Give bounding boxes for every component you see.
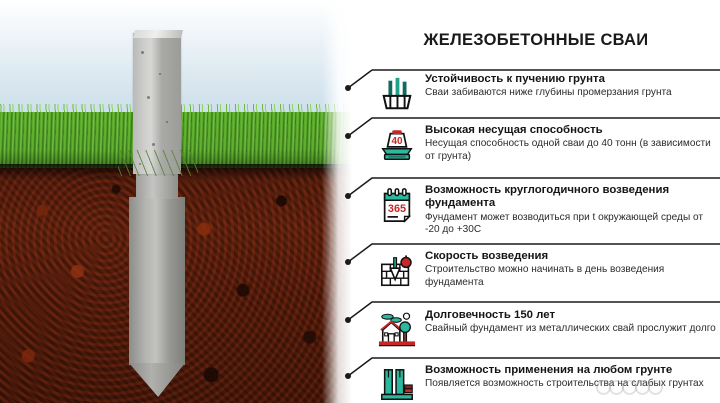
weight-scale-40-icon: 40 bbox=[378, 126, 416, 164]
feature-heading: Высокая несущая способность bbox=[425, 124, 716, 137]
feature-item[interactable]: Долговечность 150 лет Свайный фундамент … bbox=[352, 308, 720, 349]
feature-description: Строительство можно начинать в день возв… bbox=[425, 264, 716, 289]
feature-text: Устойчивость к пучению грунта Сваи забив… bbox=[425, 72, 716, 100]
pile-top-face bbox=[133, 30, 183, 38]
feature-text: Возможность круглогодичного возведения ф… bbox=[425, 183, 716, 237]
brick-trowel-stopwatch-icon bbox=[378, 252, 416, 290]
feature-heading: Устойчивость к пучению грунта bbox=[425, 73, 716, 86]
pile-shaft-above-ground bbox=[133, 33, 181, 174]
svg-text:365: 365 bbox=[388, 203, 406, 215]
feature-heading: Возможность применения на любом грунте bbox=[425, 364, 716, 377]
feature-text: Высокая несущая способность Несущая спос… bbox=[425, 123, 716, 164]
calendar-365-icon: 365 bbox=[378, 186, 416, 224]
feature-item[interactable]: Устойчивость к пучению грунта Сваи забив… bbox=[352, 72, 720, 113]
house-with-tree-icon bbox=[378, 311, 416, 349]
feature-heading: Долговечность 150 лет bbox=[425, 309, 716, 322]
feature-text: Долговечность 150 лет Свайный фундамент … bbox=[425, 308, 716, 336]
feature-description: Свайный фундамент из металлических свай … bbox=[425, 323, 716, 336]
feature-heading: Скорость возведения bbox=[425, 250, 716, 263]
feature-description: Несущая способность одной сваи до 40 тон… bbox=[425, 138, 716, 163]
pile-photo-panel bbox=[0, 0, 352, 403]
feature-item[interactable]: 40 Высокая несущая способность Несущая с… bbox=[352, 123, 720, 164]
svg-text:40: 40 bbox=[391, 136, 403, 147]
feature-item[interactable]: Скорость возведения Строительство можно … bbox=[352, 249, 720, 290]
infographic-page: ЖЕЛЕЗОБЕТОННЫЕ СВАИ Устойчивость к пучен… bbox=[0, 0, 720, 403]
feature-description: Сваи забиваются ниже глубины промерзания… bbox=[425, 87, 716, 100]
page-title: ЖЕЛЕЗОБЕТОННЫЕ СВАИ bbox=[352, 31, 720, 50]
pile-neck bbox=[136, 174, 178, 199]
pile-body-underground bbox=[129, 197, 185, 365]
features-panel: ЖЕЛЕЗОБЕТОННЫЕ СВАИ Устойчивость к пучен… bbox=[352, 0, 720, 403]
piles-in-ground-icon bbox=[378, 75, 416, 113]
feature-text: Скорость возведения Строительство можно … bbox=[425, 249, 716, 290]
avito-watermark bbox=[596, 378, 716, 400]
feature-item[interactable]: 365 Возможность круглогодичного возведен… bbox=[352, 183, 720, 237]
feature-heading: Возможность круглогодичного возведения ф… bbox=[425, 184, 716, 211]
photo-right-fade bbox=[322, 0, 352, 403]
pile-driver-columns-icon bbox=[378, 366, 416, 403]
feature-description: Фундамент может возводиться при t окружа… bbox=[425, 212, 716, 237]
